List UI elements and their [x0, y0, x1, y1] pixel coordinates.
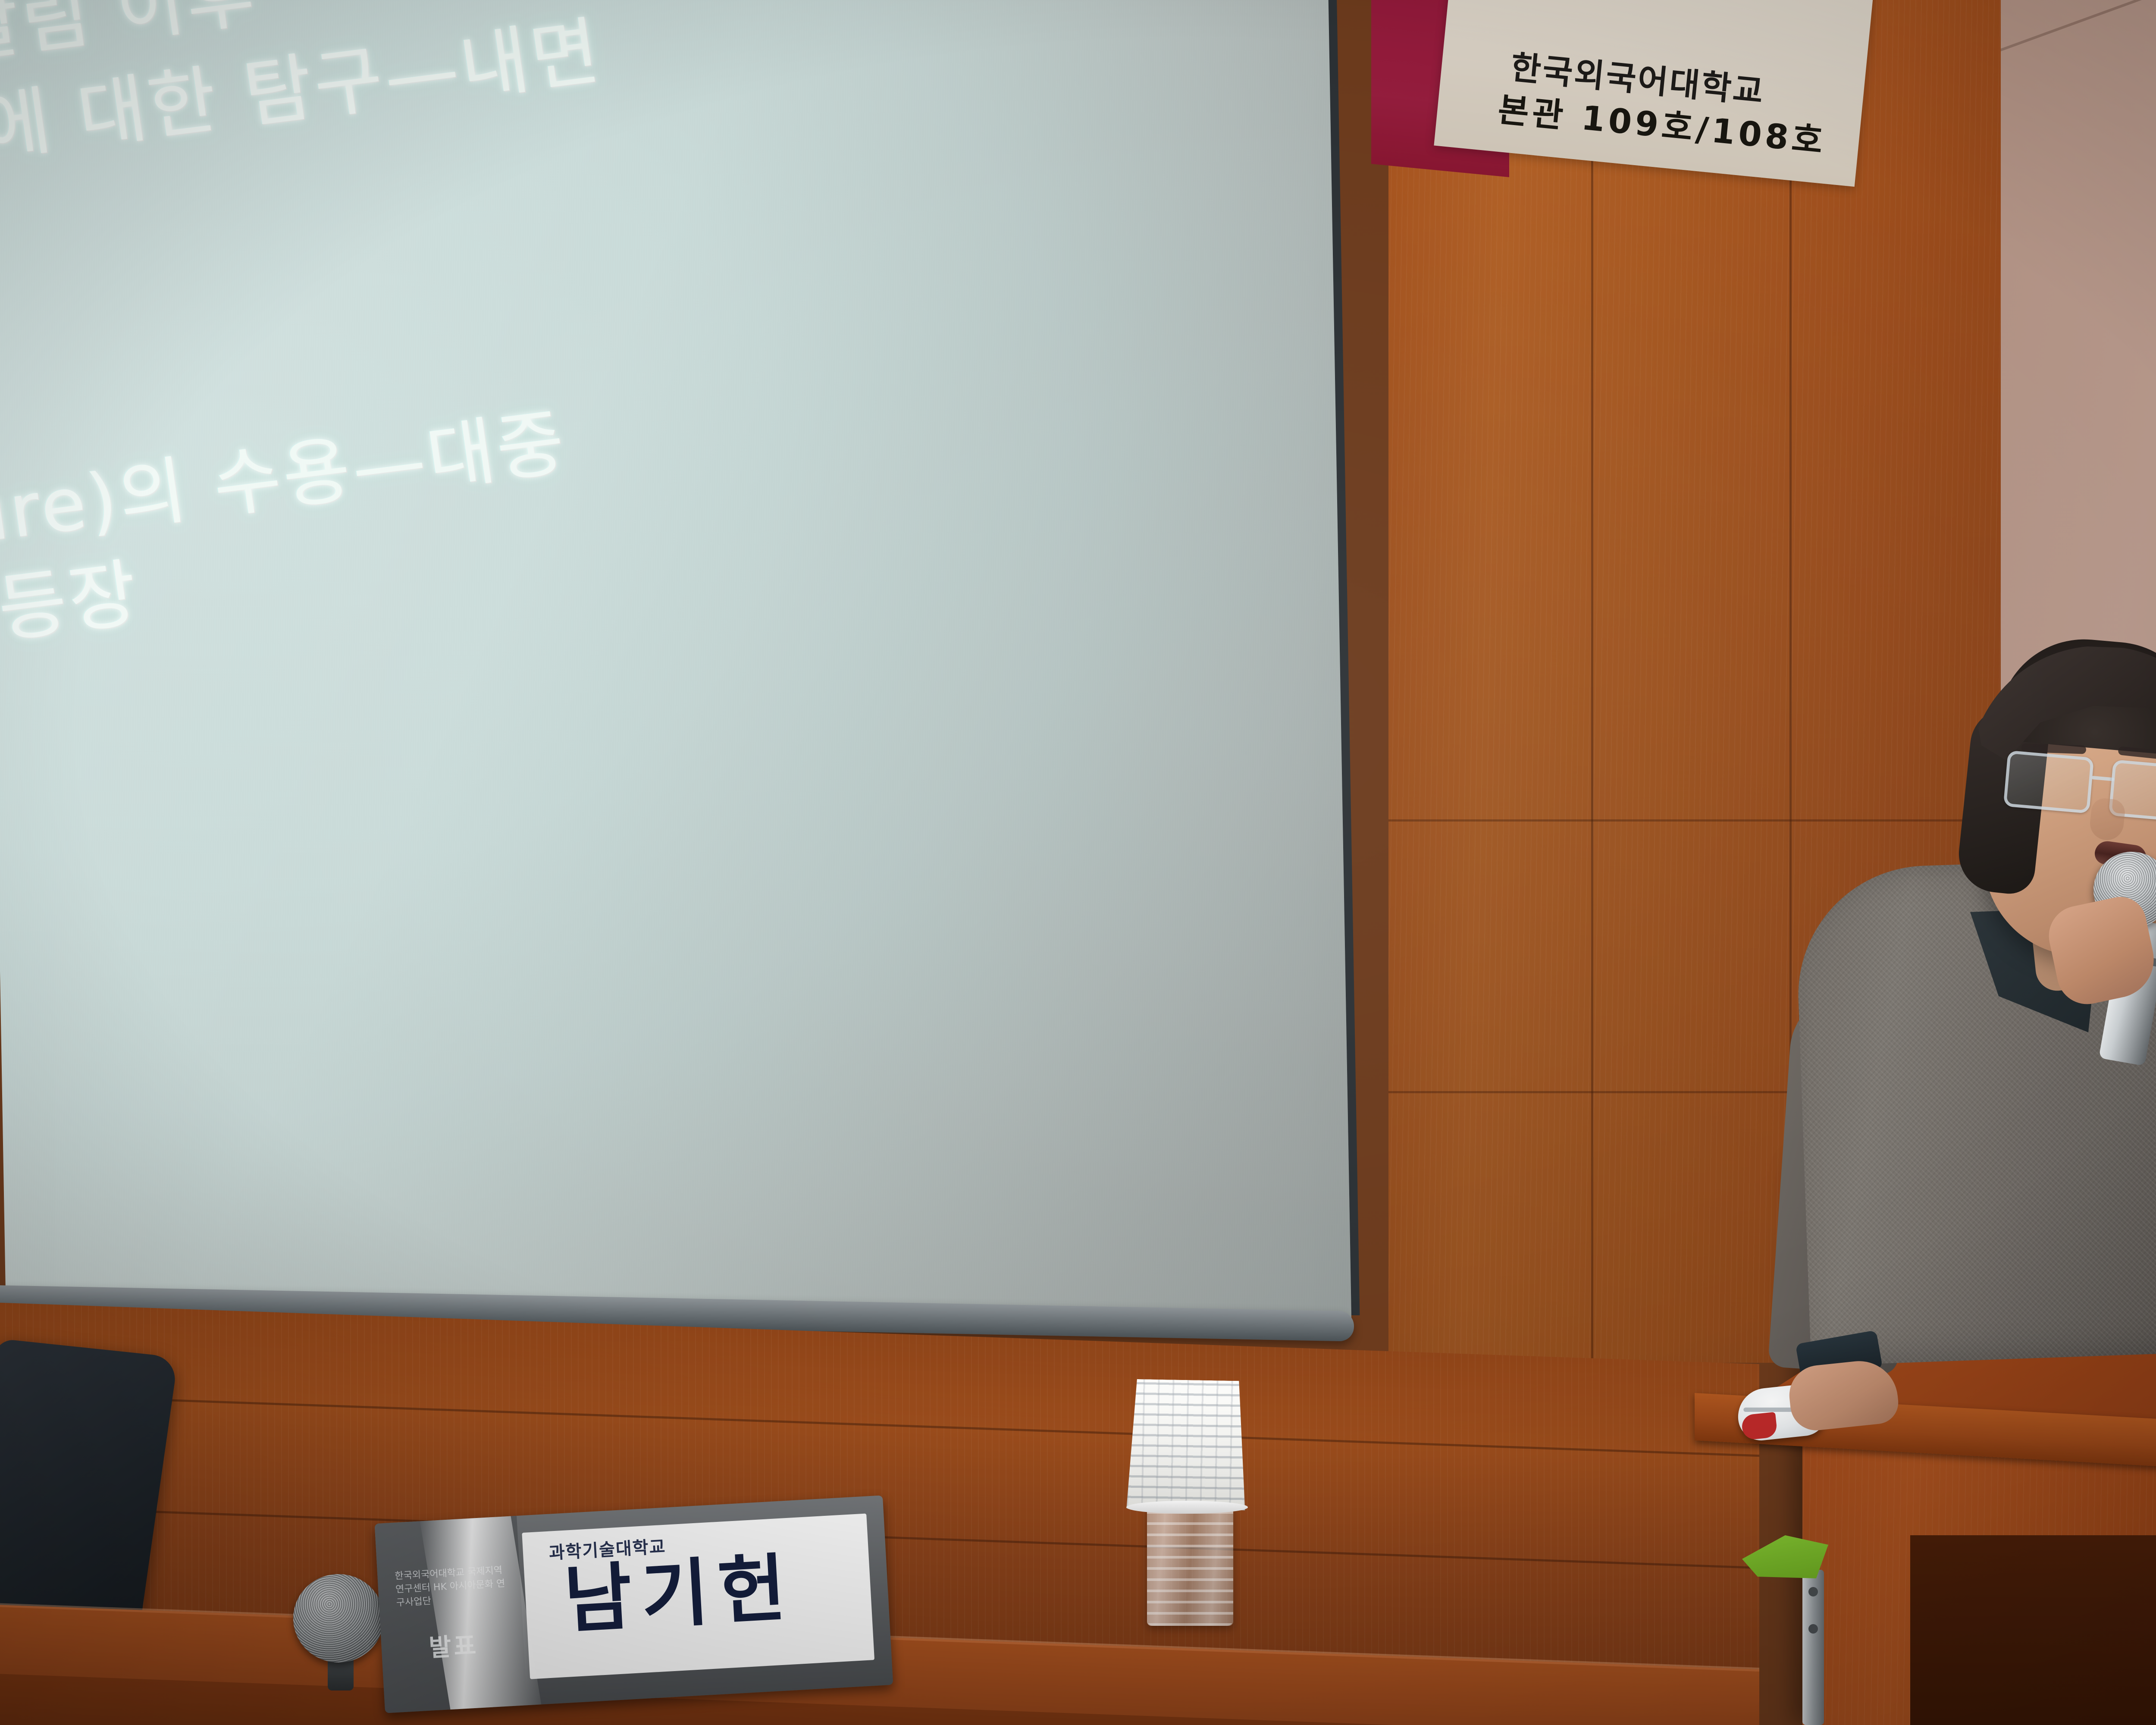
photo-scene: 한국외국어대학교 본관 109호/108호 알림 이후 ess)에 대한 탐구—… [0, 0, 2156, 1725]
table-nameplate-name: 남기헌 [563, 1551, 797, 1637]
cup-rim [1126, 1501, 1248, 1514]
bottle-ridges [1147, 1501, 1233, 1626]
table-nameplate-card: 과학기술대학교 남기헌 [522, 1514, 874, 1679]
water-bottle[interactable] [1147, 1501, 1233, 1626]
paper-cup[interactable] [1126, 1379, 1247, 1511]
podium-base-recess [1910, 1535, 2156, 1725]
table-nameplate[interactable]: 한국외국어대학교 국제지역 연구센터 HK 아시아문화 연구사업단 발표 과학기… [375, 1495, 893, 1713]
projection-screen: 알림 이후 ess)에 대한 탐구—내면 n) culture)의 수용—대중 … [0, 0, 1351, 1320]
wood-seam [1388, 819, 2001, 822]
screen-vignette [0, 0, 1351, 1320]
eyeglass-lens-left [2003, 750, 2094, 814]
wood-seam [1591, 0, 1593, 1363]
cup-print [1126, 1379, 1247, 1511]
table-microphone-icon[interactable] [293, 1574, 384, 1662]
green-sign-stem [1802, 1570, 1824, 1725]
